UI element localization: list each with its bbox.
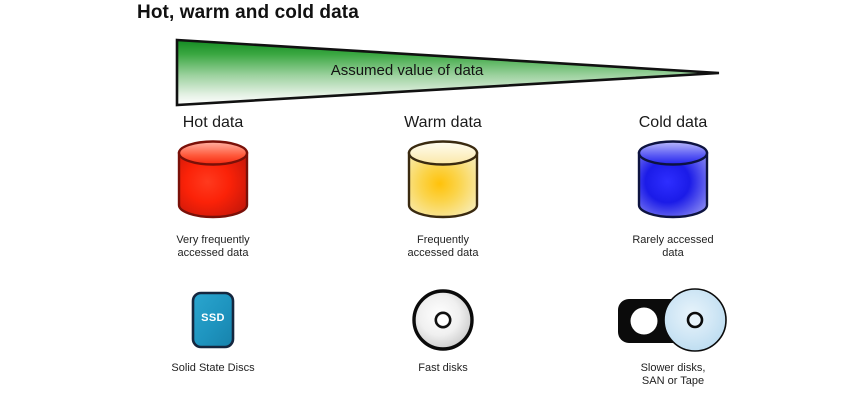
device-caption-cold-line2: SAN or Tape xyxy=(553,375,793,388)
slide-canvas: Hot, warm and cold data Assumed value of… xyxy=(0,0,841,404)
column-heading-cold: Cold data xyxy=(553,112,793,138)
optical-disc-icon xyxy=(412,289,474,351)
tape-cartridge-and-disc-icon xyxy=(614,285,732,355)
cylinder-cold xyxy=(553,138,793,230)
access-caption-hot: Very frequently accessed data xyxy=(93,234,333,268)
ssd-label: SSD xyxy=(191,312,235,324)
device-cold xyxy=(553,280,793,360)
device-hot: SSD xyxy=(93,280,333,360)
access-caption-cold: Rarely accessed data xyxy=(553,234,793,268)
column-heading-warm: Warm data xyxy=(323,112,563,138)
database-cylinder-icon xyxy=(405,138,481,220)
device-caption-cold-line1: Slower disks, xyxy=(553,362,793,375)
access-caption-warm-line1: Frequently xyxy=(323,234,563,247)
access-caption-hot-line2: accessed data xyxy=(93,247,333,260)
cylinder-hot xyxy=(93,138,333,230)
device-warm xyxy=(323,280,563,360)
column-cold: Cold data xyxy=(553,112,793,388)
database-cylinder-icon xyxy=(175,138,251,220)
column-hot: Hot data xyxy=(93,112,333,375)
access-caption-warm-line2: accessed data xyxy=(323,247,563,260)
page-title: Hot, warm and cold data xyxy=(137,2,359,24)
access-caption-hot-line1: Very frequently xyxy=(93,234,333,247)
device-caption-warm: Fast disks xyxy=(323,362,563,375)
device-caption-cold: Slower disks, SAN or Tape xyxy=(553,362,793,388)
database-cylinder-icon xyxy=(635,138,711,220)
assumed-value-banner: Assumed value of data xyxy=(172,36,724,108)
device-caption-hot-line1: Solid State Discs xyxy=(93,362,333,375)
device-caption-hot: Solid State Discs xyxy=(93,362,333,375)
column-warm: Warm data Frequent xyxy=(323,112,563,375)
cylinder-warm xyxy=(323,138,563,230)
device-caption-warm-line1: Fast disks xyxy=(323,362,563,375)
optical-disc-shape xyxy=(664,289,726,351)
access-caption-cold-line1: Rarely accessed xyxy=(553,234,793,247)
access-caption-cold-line2: data xyxy=(553,247,793,260)
column-heading-hot: Hot data xyxy=(93,112,333,138)
banner-label: Assumed value of data xyxy=(172,62,642,79)
ssd-holder: SSD xyxy=(191,291,235,349)
access-caption-warm: Frequently accessed data xyxy=(323,234,563,268)
